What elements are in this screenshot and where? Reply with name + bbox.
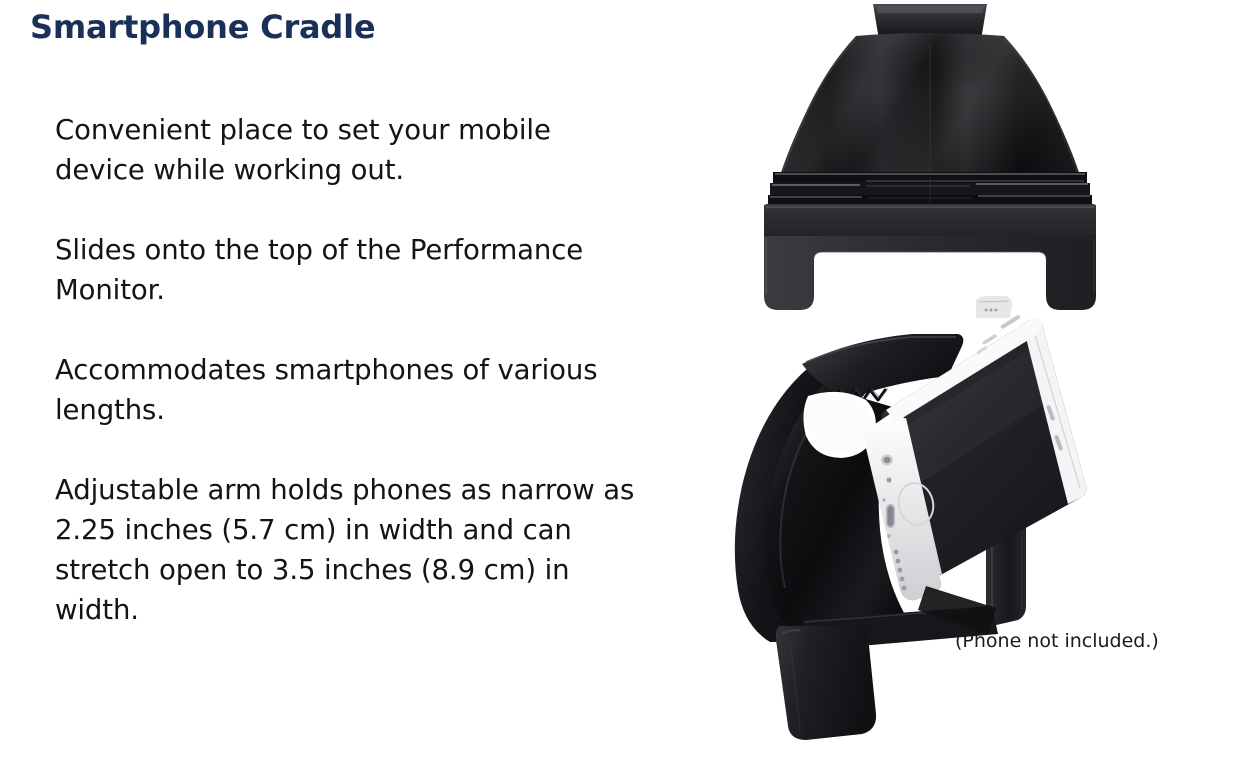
feature-item: Convenient place to set your mobile devi… [55,110,635,190]
cradle-ridge-band [768,172,1092,206]
text-column: Smartphone Cradle Convenient place to se… [0,0,660,760]
page-title: Smartphone Cradle [30,8,375,46]
phone-not-included-caption: (Phone not included.) [955,630,1159,652]
product-image-area: (Phone not included.) [660,0,1250,760]
product-feature-page: Smartphone Cradle Convenient place to se… [0,0,1250,760]
cradle-base [764,204,1096,236]
feature-item: Slides onto the top of the Performance M… [55,230,635,310]
cradle-foot [776,626,876,740]
cradle-with-phone-photo [690,290,1110,745]
cradle-front-view-photo [680,0,1180,320]
feature-item: Accommodates smartphones of various leng… [55,350,635,430]
feature-item: Adjustable arm holds phones as narrow as… [55,470,635,630]
feature-list: Convenient place to set your mobile devi… [55,110,635,630]
